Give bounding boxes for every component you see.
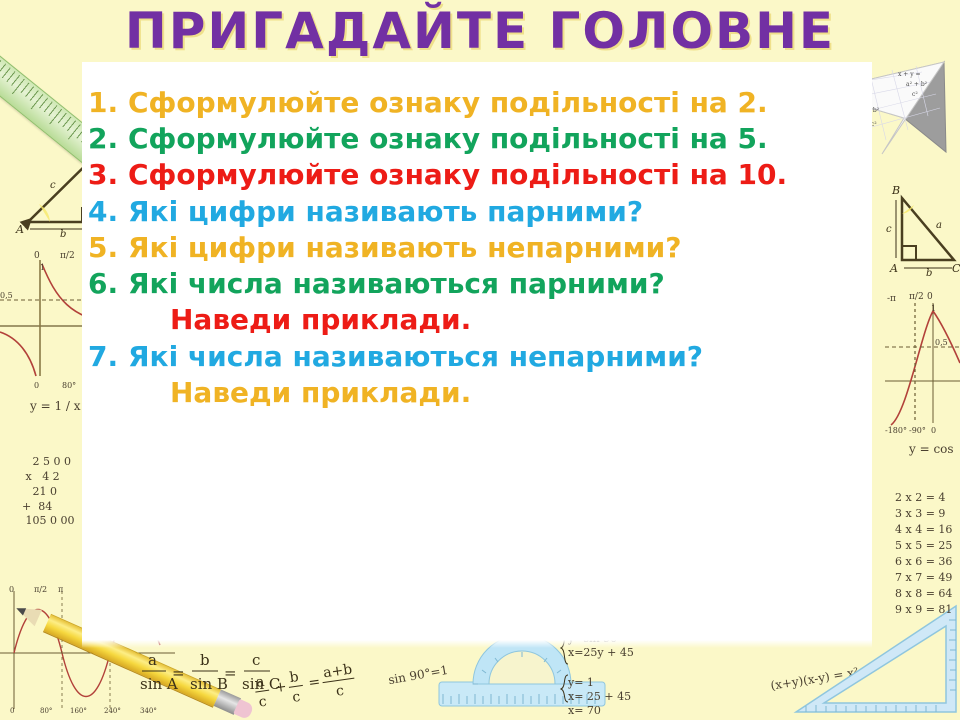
svg-text:c²: c² [912, 91, 918, 98]
cosine-label: y = cos [909, 442, 960, 457]
question-text: Які цифри називають непарними? [128, 233, 818, 263]
question-list: 1.Сформулюйте ознаку подільності на 2.2.… [88, 88, 888, 414]
svg-text:b: b [60, 229, 66, 240]
times-table-note: 2 x 2 = 4 3 x 3 = 9 4 x 4 = 16 5 x 5 = 2… [895, 490, 952, 618]
svg-text:b: b [200, 651, 210, 669]
svg-text:0: 0 [34, 381, 39, 390]
svg-text:π/2: π/2 [34, 585, 47, 594]
question-number: 2. [88, 124, 128, 154]
svg-text:b: b [926, 268, 932, 279]
binomial-note: (x+y)(x-y) = x² - y² [770, 661, 883, 693]
svg-text:x + y =: x + y = [898, 71, 921, 78]
svg-text:c: c [258, 694, 268, 711]
svg-text:sin B: sin B [190, 675, 228, 693]
svg-text:-90°: -90° [909, 426, 926, 435]
question-number: 1. [88, 88, 128, 118]
svg-text:0: 0 [931, 426, 936, 435]
svg-text:π/2: π/2 [60, 251, 75, 261]
svg-text:a: a [148, 651, 157, 669]
question-number: 7. [88, 342, 128, 372]
svg-text:0: 0 [9, 585, 14, 594]
question-number: 5. [88, 233, 128, 263]
long-multiplication-note: 2 5 0 0 x 4 2 21 0 + 84 105 0 00 [22, 455, 74, 529]
question-item: 3.Сформулюйте ознаку подільності на 10. [88, 160, 888, 190]
svg-text:1: 1 [40, 263, 45, 272]
question-number: 3. [88, 160, 128, 190]
svg-text:c: c [335, 683, 345, 700]
law-of-sines-note: asin A = bsin B = csin C [140, 645, 350, 704]
question-text: Які числа називаються непарними? [128, 342, 818, 372]
system-bottom-note: y= 1 x= 25 + 45 x= 70 [568, 676, 631, 717]
question-text: Сформулюйте ознаку подільності на 2. [128, 88, 818, 118]
question-text: Які цифри називають парними? [128, 197, 818, 227]
cosine-graph: 0 1 0,5 π/2 -π -180° -90° 0 y = cos [885, 285, 960, 457]
fraction-sum-note: ac + bc = a+bc [252, 651, 388, 720]
svg-text:1: 1 [931, 304, 936, 313]
question-text: Які числа називаються парними? [128, 269, 818, 299]
question-item: 7.Які числа називаються непарними? [88, 342, 888, 372]
svg-text:a+b: a+b [322, 661, 353, 681]
svg-text:π/2: π/2 [909, 292, 924, 302]
svg-text:0,5: 0,5 [0, 291, 13, 300]
right-triangle-diagram: B A C c a b [880, 172, 960, 282]
svg-text:0,5: 0,5 [935, 338, 948, 347]
svg-text:0: 0 [10, 707, 14, 715]
svg-text:-π: -π [887, 294, 896, 304]
svg-text:+: + [274, 679, 288, 696]
question-item: 4.Які цифри називають парними? [88, 197, 888, 227]
question-text: Сформулюйте ознаку подільності на 10. [128, 160, 818, 190]
svg-text:sin A: sin A [140, 675, 178, 693]
page-title: ПРИГАДАЙТЕ ГОЛОВНЕ [0, 2, 960, 60]
svg-text:=: = [172, 664, 185, 682]
question-item: 6.Які числа називаються парними? [88, 269, 888, 299]
svg-text:240°: 240° [104, 707, 121, 715]
svg-text:A: A [889, 262, 898, 275]
question-number: 4. [88, 197, 128, 227]
svg-text:c: c [252, 651, 260, 669]
blue-protractor-icon [437, 638, 607, 720]
question-subnote: Наведи приклади. [170, 305, 888, 335]
svg-text:π: π [58, 585, 63, 594]
question-item: 5.Які цифри називають непарними? [88, 233, 888, 263]
svg-text:a: a [255, 674, 266, 691]
svg-text:a² + b²: a² + b² [906, 81, 928, 88]
svg-text:a: a [936, 220, 942, 231]
sin90-note: sin 90°=1 [387, 663, 449, 688]
svg-text:A: A [15, 223, 24, 236]
svg-text:0: 0 [34, 251, 40, 261]
question-subnote: Наведи приклади. [170, 378, 888, 408]
svg-text:c: c [291, 689, 301, 706]
svg-text:-180°: -180° [885, 426, 907, 435]
svg-text:0: 0 [927, 292, 933, 302]
svg-text:160°: 160° [70, 707, 87, 715]
svg-text:sin C: sin C [242, 675, 280, 693]
question-number: 6. [88, 269, 128, 299]
svg-text:80°: 80° [62, 381, 76, 390]
svg-text:B: B [891, 184, 900, 197]
svg-text:80°: 80° [40, 707, 52, 715]
question-item: 1.Сформулюйте ознаку подільності на 2. [88, 88, 888, 118]
slide-canvas: B A C c a b [0, 0, 960, 720]
question-item: 2.Сформулюйте ознаку подільності на 5. [88, 124, 888, 154]
svg-text:340°: 340° [140, 707, 157, 715]
svg-text:c: c [50, 180, 56, 191]
svg-text:b: b [289, 669, 300, 686]
brace-bottom-icon [560, 674, 570, 709]
svg-text:=: = [308, 674, 322, 691]
question-text: Сформулюйте ознаку подільності на 5. [128, 124, 818, 154]
svg-text:C: C [952, 262, 960, 275]
svg-text:=: = [224, 664, 237, 682]
